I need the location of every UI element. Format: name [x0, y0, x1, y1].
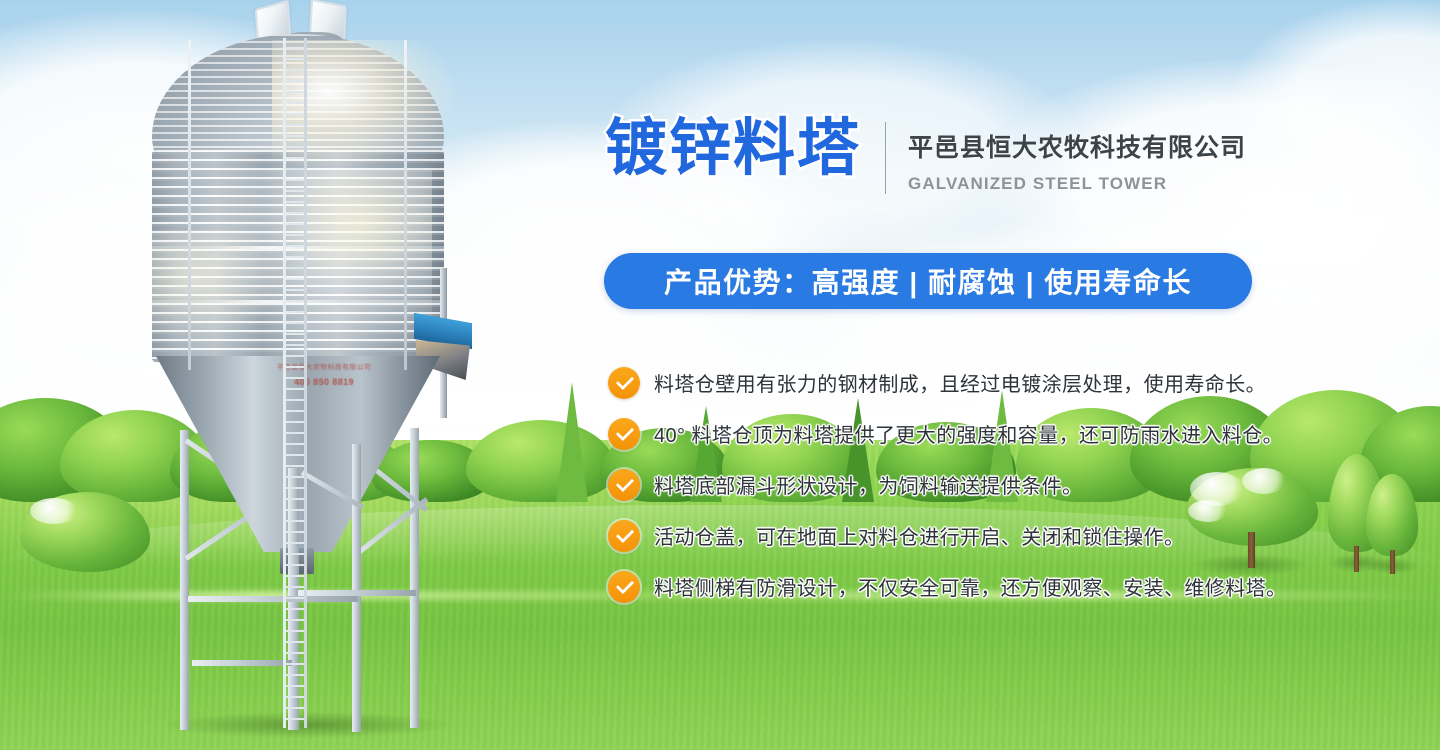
list-item: 40° 料塔仓顶为料塔提供了更大的强度和容量，还可防雨水进入料仓。: [608, 408, 1408, 459]
page-title: 镀锌料塔: [605, 118, 861, 180]
list-item: 料塔仓壁用有张力的钢材制成，且经过电镀涂层处理，使用寿命长。: [608, 357, 1408, 408]
feature-text: 料塔底部漏斗形状设计，为饲料输送提供条件。: [654, 470, 1082, 499]
company-name: 平邑县恒大农牧科技有限公司: [908, 128, 1246, 164]
list-item: 料塔侧梯有防滑设计，不仅安全可靠，还方便观察、安装、维修料塔。: [608, 561, 1408, 612]
check-circle-icon: [608, 571, 640, 603]
feature-text: 料塔仓壁用有张力的钢材制成，且经过电镀涂层处理，使用寿命长。: [654, 368, 1266, 397]
company-subtitle: GALVANIZED STEEL TOWER: [908, 174, 1246, 194]
company-block: 平邑县恒大农牧科技有限公司 GALVANIZED STEEL TOWER: [908, 118, 1246, 194]
feature-list: 料塔仓壁用有张力的钢材制成，且经过电镀涂层处理，使用寿命长。40° 料塔仓顶为料…: [608, 357, 1408, 612]
product-advantage-badge: 产品优势：高强度 | 耐腐蚀 | 使用寿命长: [604, 253, 1252, 309]
feature-text: 料塔侧梯有防滑设计，不仅安全可靠，还方便观察、安装、维修料塔。: [654, 572, 1286, 601]
check-circle-icon: [608, 418, 640, 450]
feature-text: 40° 料塔仓顶为料塔提供了更大的强度和容量，还可防雨水进入料仓。: [654, 419, 1283, 448]
product-hero-banner: 平邑县恒大农牧科技有限公司 400 850 8819 镀锌料塔 平邑县恒大农牧科…: [0, 0, 1440, 750]
check-circle-icon: [608, 469, 640, 501]
check-circle-icon: [608, 367, 640, 399]
list-item: 料塔底部漏斗形状设计，为饲料输送提供条件。: [608, 459, 1408, 510]
check-circle-icon: [608, 520, 640, 552]
hero-text-content: 镀锌料塔 平邑县恒大农牧科技有限公司 GALVANIZED STEEL TOWE…: [0, 0, 1440, 750]
feature-text: 活动仓盖，可在地面上对料仓进行开启、关闭和锁住操作。: [654, 521, 1184, 550]
headline-row: 镀锌料塔 平邑县恒大农牧科技有限公司 GALVANIZED STEEL TOWE…: [605, 118, 1246, 194]
headline-divider: [885, 122, 886, 194]
list-item: 活动仓盖，可在地面上对料仓进行开启、关闭和锁住操作。: [608, 510, 1408, 561]
product-advantage-text: 产品优势：高强度 | 耐腐蚀 | 使用寿命长: [664, 261, 1192, 301]
